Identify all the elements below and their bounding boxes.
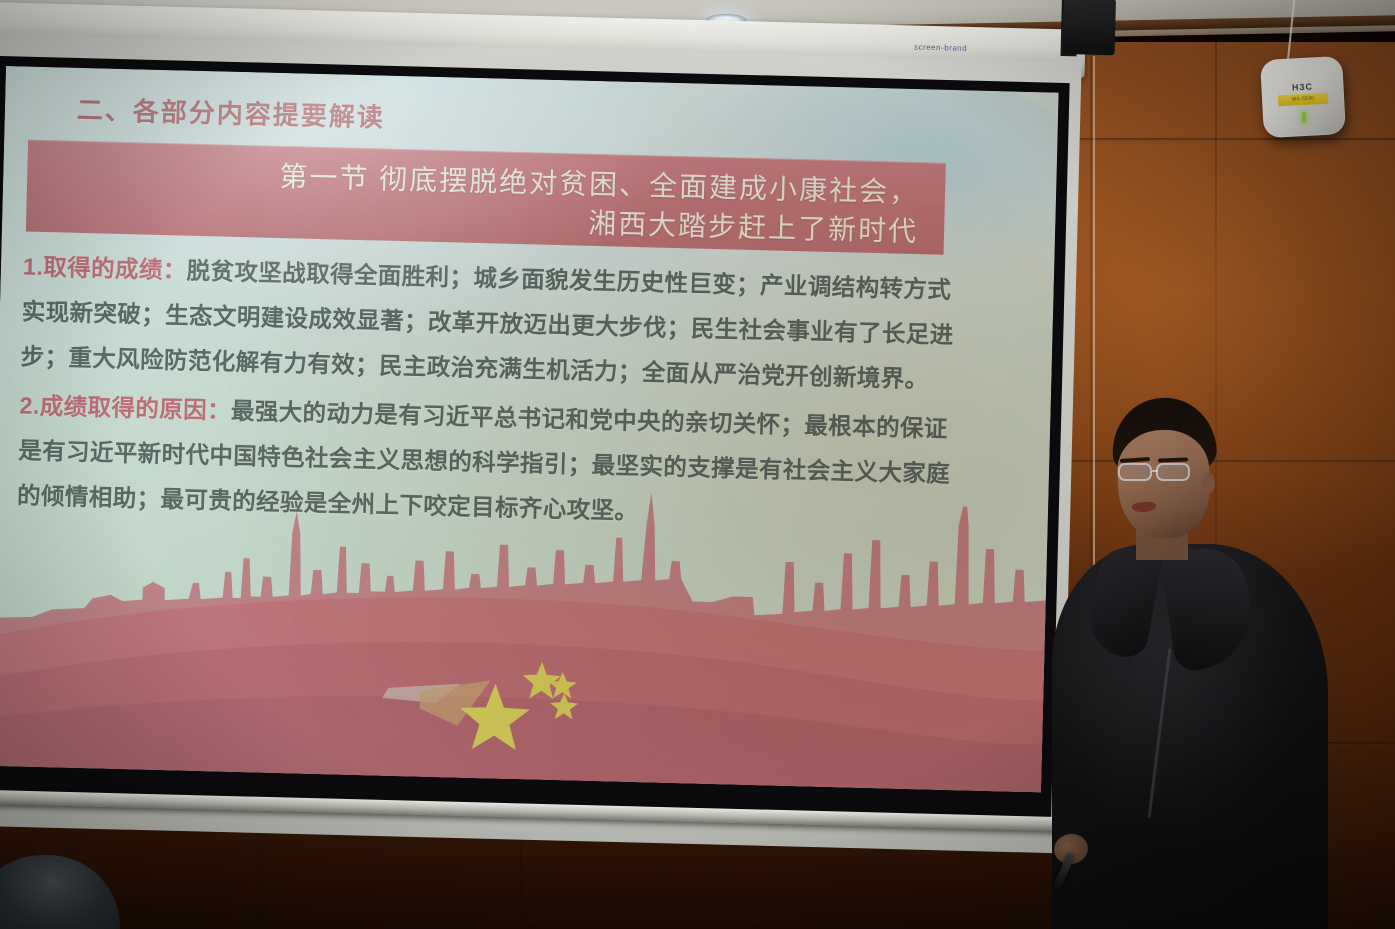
slide-title-line-2: 湘西大踏步赶上了新时代: [588, 202, 919, 250]
ap-brand-label: H3C: [1261, 80, 1343, 94]
paragraph-lead: 2.成绩取得的原因：: [19, 392, 231, 423]
ap-model-label: WA-5530: [1278, 93, 1329, 107]
slide-decoration: [0, 466, 1049, 793]
eyeglasses-icon: [1118, 463, 1152, 481]
slide-paragraph: 1.取得的成绩：脱贫攻坚战取得全面胜利；城乡面貌发生历史性巨变；产业调结构转方式…: [20, 244, 963, 403]
slide-surface: 二、各部分内容提要解读 第一节 彻底摆脱绝对贫困、全面建成小康社会， 湘西大踏步…: [0, 66, 1059, 792]
presenter-face: [1115, 428, 1213, 541]
paragraph-lead: 1.取得的成绩：: [23, 253, 187, 283]
screen-case-endcap: [1063, 0, 1116, 55]
projected-slide: 二、各部分内容提要解读 第一节 彻底摆脱绝对贫困、全面建成小康社会， 湘西大踏步…: [0, 66, 1059, 792]
eyeglasses-bridge: [1152, 470, 1158, 472]
slide-section-heading: 二、各部分内容提要解读: [76, 90, 385, 135]
room-photo-scene: screen-brand 二、各部分内容提要解读 第一节 彻底摆脱绝对贫困、全面…: [0, 0, 1395, 929]
ap-status-led: [1302, 112, 1307, 123]
presenter: [1040, 398, 1340, 929]
eyeglasses-icon: [1156, 463, 1190, 481]
presenter-ear: [1201, 472, 1215, 494]
screen-brand-logo: screen-brand: [914, 42, 967, 52]
wireless-access-point: H3C WA-5530: [1260, 56, 1346, 138]
